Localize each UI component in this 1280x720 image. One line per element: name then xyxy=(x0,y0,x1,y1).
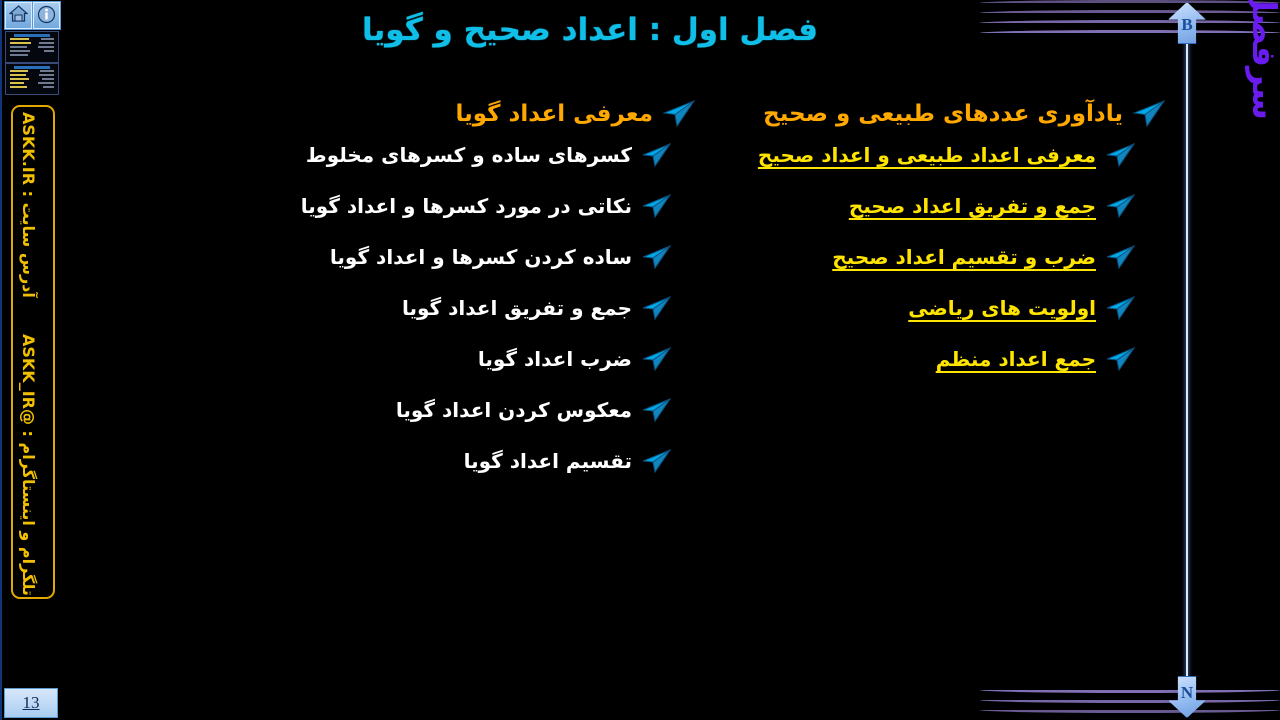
list-item-label: ضرب و تقسیم اعداد صحیح xyxy=(832,245,1096,269)
nav-next-label: N xyxy=(1168,683,1206,703)
page-number-label: 13 xyxy=(23,693,40,712)
arrow-bullet-icon xyxy=(1105,347,1135,371)
content-column-rationals: معرفی اعداد گویا کسرهای ساده و کسرهای مخ… xyxy=(265,100,695,500)
list-item-label: معرفی اعداد طبیعی و اعداد صحیح xyxy=(758,143,1096,167)
list-item-label: جمع اعداد منظم xyxy=(936,347,1096,371)
list-item[interactable]: ضرب اعداد گویا xyxy=(265,347,695,371)
list-item[interactable]: ساده کردن کسرها و اعداد گویا xyxy=(265,245,695,269)
arrow-bullet-icon xyxy=(661,100,695,127)
slide-thumbnail-2[interactable] xyxy=(5,63,59,95)
site-address-text: آدرس سایت : ASKK.IR xyxy=(19,112,38,298)
list-item-label: جمع و تفریق اعداد گویا xyxy=(402,296,632,320)
left-sidebar: آدرس سایت : ASKK.IR تلگرام و اینستاگرام … xyxy=(0,0,60,720)
list-item[interactable]: تقسیم اعداد گویا xyxy=(265,449,695,473)
column-header-integers: یادآوری عددهای طبیعی و صحیح xyxy=(745,100,1165,127)
list-item-label: نکاتی در مورد کسرها و اعداد گویا xyxy=(301,194,632,218)
arrow-bullet-icon xyxy=(641,245,671,269)
list-item[interactable]: معرفی اعداد طبیعی و اعداد صحیح xyxy=(745,143,1165,167)
section-vertical-label: سرفصل مطالب فصل اول : xyxy=(1214,0,1280,120)
list-item-label: اولویت های ریاضی xyxy=(908,296,1096,320)
list-item-label: کسرهای ساده و کسرهای مخلوط xyxy=(306,143,632,167)
list-item[interactable]: ضرب و تقسیم اعداد صحیح xyxy=(745,245,1165,269)
list-item[interactable]: نکاتی در مورد کسرها و اعداد گویا xyxy=(265,194,695,218)
arrow-bullet-icon xyxy=(1105,245,1135,269)
arrow-bullet-icon xyxy=(641,347,671,371)
arrow-bullet-icon xyxy=(641,194,671,218)
list-item[interactable]: جمع و تفریق اعداد صحیح xyxy=(745,194,1165,218)
list-item[interactable]: کسرهای ساده و کسرهای مخلوط xyxy=(265,143,695,167)
slide-title: فصل اول : اعداد صحیح و گویا xyxy=(0,12,1180,48)
list-item-label: معکوس کردن اعداد گویا xyxy=(396,398,632,422)
arrow-bullet-icon xyxy=(1105,296,1135,320)
column-header-label: یادآوری عددهای طبیعی و صحیح xyxy=(763,101,1123,127)
arrow-bullet-icon xyxy=(641,449,671,473)
slide-thumbnail-1[interactable] xyxy=(5,31,59,63)
info-button[interactable] xyxy=(32,1,61,30)
arrow-bullet-icon xyxy=(641,296,671,320)
arrow-bullet-icon xyxy=(1105,194,1135,218)
content-column-integers: یادآوری عددهای طبیعی و صحیح معرفی اعداد … xyxy=(745,100,1165,398)
column-header-label: معرفی اعداد گویا xyxy=(455,101,653,127)
list-item[interactable]: معکوس کردن اعداد گویا xyxy=(265,398,695,422)
list-item-label: ساده کردن کسرها و اعداد گویا xyxy=(330,245,632,269)
social-handle-text: تلگرام و اینستاگرام : @ASKK_IR xyxy=(19,334,38,596)
list-item[interactable]: اولویت های ریاضی xyxy=(745,296,1165,320)
column-header-rationals: معرفی اعداد گویا xyxy=(265,100,695,127)
arrow-bullet-icon xyxy=(641,143,671,167)
thumbnail-title-bar xyxy=(14,66,50,69)
nav-next-arrow-button[interactable]: N xyxy=(1168,676,1206,718)
home-icon xyxy=(9,5,28,23)
list-item[interactable]: جمع اعداد منظم xyxy=(745,347,1165,371)
list-item-label: تقسیم اعداد گویا xyxy=(464,449,632,473)
arrow-bullet-icon xyxy=(641,398,671,422)
list-item-label: جمع و تفریق اعداد صحیح xyxy=(849,194,1096,218)
wave-decoration-bottom-right xyxy=(980,646,1280,720)
nav-connector-line xyxy=(1186,34,1188,694)
page-number-button[interactable]: 13 xyxy=(4,688,58,718)
arrow-bullet-icon xyxy=(1131,100,1165,127)
list-item[interactable]: جمع و تفریق اعداد گویا xyxy=(265,296,695,320)
arrow-bullet-icon xyxy=(1105,143,1135,167)
info-icon xyxy=(37,5,56,24)
thumbnail-title-bar xyxy=(14,34,50,37)
home-button[interactable] xyxy=(4,1,33,30)
list-item-label: ضرب اعداد گویا xyxy=(478,347,632,371)
slide-canvas: B N فصل اول : اعداد صحیح و گویا سرفصل مط… xyxy=(0,0,1280,720)
